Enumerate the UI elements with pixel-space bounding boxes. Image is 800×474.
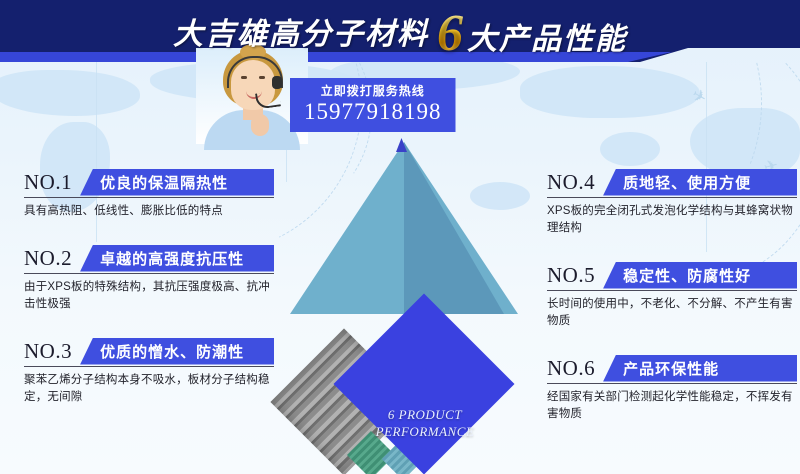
diamond-label-line2: PERFORMANCE [372,423,478,440]
page-title: 大吉雄高分子材料 6 大产品性能 [0,0,800,62]
title-main-text: 大吉雄高分子材料 [173,9,429,53]
feature-1-description: 具有高热阻、低线性、膨胀比低的特点 [24,203,274,220]
feature-column-right: NO.4 质地轻、使用方便 XPS板的完全闭孔式发泡化学结构与其蜂窝状物理结构 … [547,168,797,447]
feature-5-number: NO.5 [547,265,603,286]
feature-6-description: 经国家有关部门检测起化学性能稳定，不挥发有害物质 [547,389,797,423]
feature-5-head: NO.5 稳定性、防腐性好 [547,261,797,289]
feature-3-description: 聚苯乙烯分子结构本身不吸水，板材分子结构稳定，无间隙 [24,372,274,406]
feature-1-head: NO.1 优良的保温隔热性 [24,168,274,196]
feature-6-head: NO.6 产品环保性能 [547,354,797,382]
feature-5-title-bar: 稳定性、防腐性好 [603,262,797,289]
feature-3-rule [24,366,274,367]
feature-2-title: 卓越的高强度抗压性 [100,248,244,269]
feature-3-title: 优质的憎水、防潮性 [100,341,244,362]
headset-earpiece-icon [272,76,282,89]
feature-3-head: NO.3 优质的憎水、防潮性 [24,337,274,365]
feature-5-title: 稳定性、防腐性好 [623,265,751,286]
feature-5-rule [547,290,797,291]
hotline-box[interactable]: 立即拨打服务热线 15977918198 [290,78,456,132]
feature-3-number: NO.3 [24,341,80,362]
hotline-number: 15977918198 [304,99,442,125]
feature-6-title-bar: 产品环保性能 [603,355,797,382]
center-artwork: 6 PRODUCT PERFORMANCE [262,138,538,418]
feature-6-rule [547,383,797,384]
feature-item-1: NO.1 优良的保温隔热性 具有高热阻、低线性、膨胀比低的特点 [24,168,274,220]
feature-4-title-bar: 质地轻、使用方便 [603,169,797,196]
operator-hand [251,114,269,136]
diamond-label-line1: 6 PRODUCT [372,406,478,423]
hotline-label: 立即拨打服务热线 [304,83,442,99]
title-tail-text: 大产品性能 [467,14,627,58]
feature-4-title: 质地轻、使用方便 [623,172,751,193]
feature-1-title: 优良的保温隔热性 [100,172,228,193]
pyramid-shadow-face [404,142,504,314]
title-number-six: 6 [437,12,463,56]
feature-2-description: 由于XPS板的特殊结构，其抗压强度极高、抗冲击性极强 [24,279,274,313]
feature-item-5: NO.5 稳定性、防腐性好 长时间的使用中，不老化、不分解、不产生有害物质 [547,261,797,330]
feature-item-2: NO.2 卓越的高强度抗压性 由于XPS板的特殊结构，其抗压强度极高、抗冲击性极… [24,244,274,313]
feature-column-left: NO.1 优良的保温隔热性 具有高热阻、低线性、膨胀比低的特点 NO.2 卓越的… [24,168,274,430]
feature-item-4: NO.4 质地轻、使用方便 XPS板的完全闭孔式发泡化学结构与其蜂窝状物理结构 [547,168,797,237]
feature-4-number: NO.4 [547,172,603,193]
feature-2-number: NO.2 [24,248,80,269]
feature-4-description: XPS板的完全闭孔式发泡化学结构与其蜂窝状物理结构 [547,203,797,237]
feature-item-3: NO.3 优质的憎水、防潮性 聚苯乙烯分子结构本身不吸水，板材分子结构稳定，无间… [24,337,274,406]
feature-2-title-bar: 卓越的高强度抗压性 [80,245,274,272]
feature-item-6: NO.6 产品环保性能 经国家有关部门检测起化学性能稳定，不挥发有害物质 [547,354,797,423]
feature-4-head: NO.4 质地轻、使用方便 [547,168,797,196]
feature-4-rule [547,197,797,198]
feature-5-description: 长时间的使用中，不老化、不分解、不产生有害物质 [547,296,797,330]
infographic-page: ✈ ✈ 大吉雄高分子材料 6 大产品性能 立即拨打服务热线 1597791819… [0,0,800,474]
feature-2-head: NO.2 卓越的高强度抗压性 [24,244,274,272]
feature-6-number: NO.6 [547,358,603,379]
feature-3-title-bar: 优质的憎水、防潮性 [80,338,274,365]
feature-1-rule [24,197,274,198]
feature-2-rule [24,273,274,274]
feature-1-number: NO.1 [24,172,80,193]
diamond-label: 6 PRODUCT PERFORMANCE [372,406,478,440]
feature-1-title-bar: 优良的保温隔热性 [80,169,274,196]
feature-6-title: 产品环保性能 [623,358,719,379]
